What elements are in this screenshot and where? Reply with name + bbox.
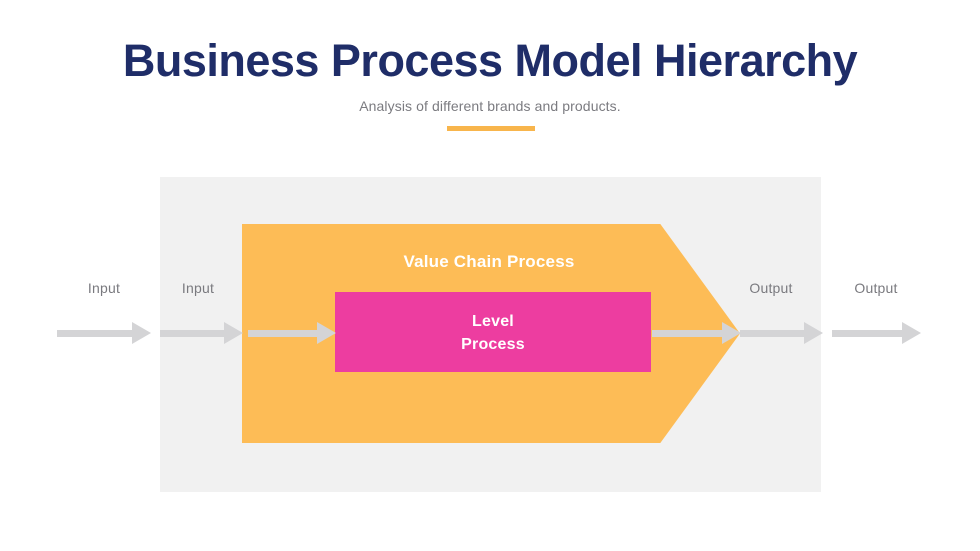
output-label-2: Output — [828, 280, 924, 296]
input-label-1: Input — [56, 280, 152, 296]
flow-arrow-2 — [160, 322, 243, 344]
level-process-label: Level Process — [335, 310, 651, 356]
output-label-1: Output — [723, 280, 819, 296]
flow-arrow-6 — [832, 322, 921, 344]
arrow-shaft — [57, 330, 132, 337]
arrow-shaft — [248, 330, 317, 337]
flow-arrow-5 — [740, 322, 823, 344]
flow-arrow-4 — [652, 322, 741, 344]
arrow-shaft — [652, 330, 722, 337]
arrow-shaft — [740, 330, 804, 337]
flow-arrow-3 — [248, 322, 336, 344]
arrow-head-icon — [317, 322, 336, 344]
level-process-label-line1: Level — [335, 310, 651, 333]
arrow-head-icon — [132, 322, 151, 344]
flow-arrow-1 — [57, 322, 151, 344]
arrow-shaft — [832, 330, 902, 337]
input-label-2: Input — [152, 280, 244, 296]
arrow-head-icon — [722, 322, 741, 344]
arrow-shaft — [160, 330, 224, 337]
arrow-head-icon — [804, 322, 823, 344]
arrow-head-icon — [902, 322, 921, 344]
level-process-label-line2: Process — [335, 333, 651, 356]
value-chain-process-label: Value Chain Process — [242, 252, 740, 272]
diagram-stage: Value Chain Process Level Process Input … — [0, 0, 980, 551]
arrow-head-icon — [224, 322, 243, 344]
